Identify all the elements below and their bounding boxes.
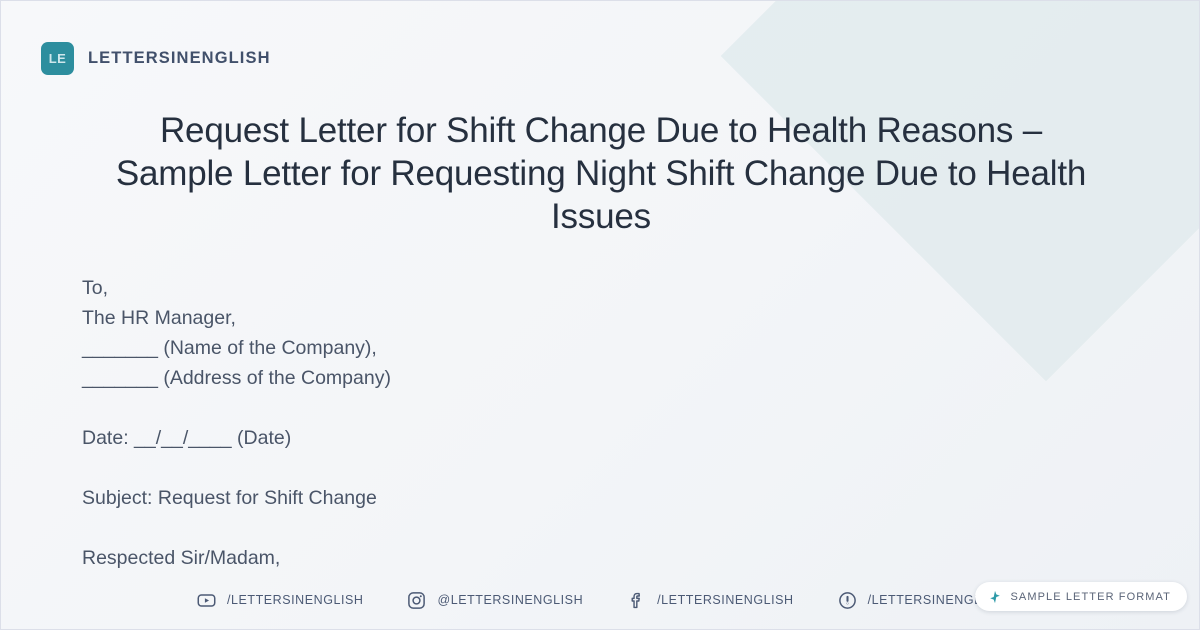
letter-line-to: To,: [82, 273, 902, 303]
facebook-icon: [627, 591, 646, 610]
social-handle-instagram: @LETTERSINENGLISH: [437, 593, 583, 607]
letter-line-company-address: _______ (Address of the Company): [82, 363, 902, 393]
social-handle-facebook: /LETTERSINENGLISH: [657, 593, 793, 607]
letter-spacer: [82, 513, 902, 543]
instagram-icon: [407, 591, 426, 610]
brand-logo: LE LETTERSINENGLISH: [41, 42, 271, 75]
social-link-instagram[interactable]: @LETTERSINENGLISH: [407, 591, 583, 610]
letter-line-subject: Subject: Request for Shift Change: [82, 483, 902, 513]
letter-spacer: [82, 453, 902, 483]
letter-line-salutation: Respected Sir/Madam,: [82, 543, 902, 573]
brand-monogram-icon: LE: [41, 42, 74, 75]
brand-name-label: LETTERSINENGLISH: [88, 49, 271, 68]
page-title: Request Letter for Shift Change Due to H…: [101, 109, 1101, 238]
pinterest-icon: [838, 591, 857, 610]
letter-line-company-name: _______ (Name of the Company),: [82, 333, 902, 363]
lightning-bolt-icon: [988, 590, 1002, 604]
letter-line-recipient: The HR Manager,: [82, 303, 902, 333]
letter-spacer: [82, 393, 902, 423]
letter-body: To, The HR Manager, _______ (Name of the…: [82, 273, 902, 573]
badge-label: SAMPLE LETTER FORMAT: [1010, 591, 1171, 603]
youtube-icon: [197, 591, 216, 610]
social-link-youtube[interactable]: /LETTERSINENGLISH: [197, 591, 363, 610]
sample-letter-format-badge[interactable]: SAMPLE LETTER FORMAT: [975, 582, 1187, 611]
letter-preview-card: LE LETTERSINENGLISH Request Letter for S…: [0, 0, 1200, 630]
letter-line-date: Date: __/__/____ (Date): [82, 423, 902, 453]
social-link-facebook[interactable]: /LETTERSINENGLISH: [627, 591, 793, 610]
social-handle-youtube: /LETTERSINENGLISH: [227, 593, 363, 607]
